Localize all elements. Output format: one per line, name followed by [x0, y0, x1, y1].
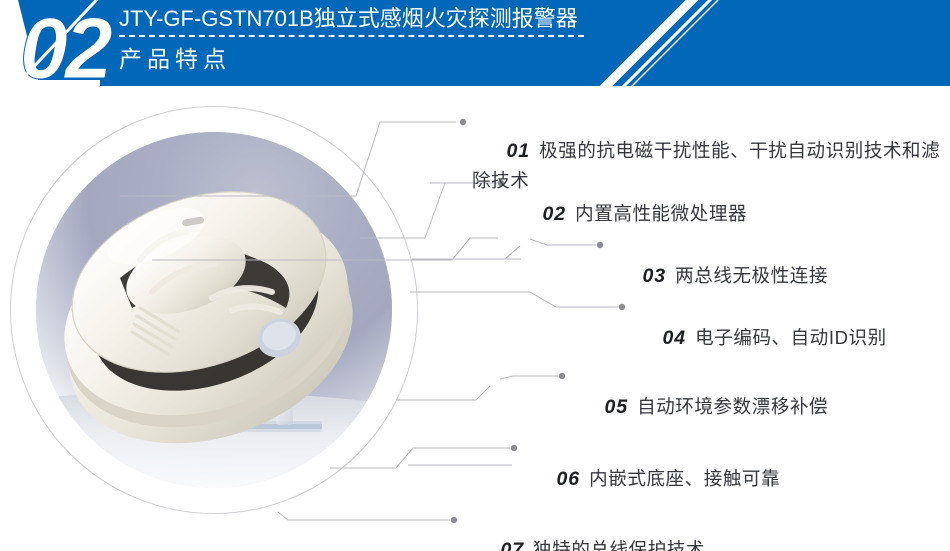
- feature-list: 01极强的抗电磁干扰性能、干扰自动识别技术和滤除技术 02内置高性能微处理器 0…: [0, 0, 950, 551]
- feature-number: 04: [662, 327, 686, 349]
- feature-text: 自动环境参数漂移补偿: [637, 396, 828, 417]
- feature-number: 05: [604, 396, 628, 418]
- feature-text: 两总线无极性连接: [675, 265, 828, 286]
- feature-number: 03: [642, 265, 666, 287]
- feature-text: 内置高性能微处理器: [575, 203, 747, 224]
- feature-number: 06: [556, 468, 580, 490]
- feature-text: 内嵌式底座、接触可靠: [589, 468, 780, 489]
- feature-number: 01: [506, 140, 530, 162]
- feature-number: 02: [542, 203, 566, 225]
- feature-text: 独特的总线保护技术: [533, 539, 705, 551]
- feature-item-07: 07独特的总线保护技术: [466, 506, 936, 551]
- feature-text: 电子编码、自动ID识别: [695, 327, 887, 348]
- product-feature-infographic: 02 JTY-GF-GSTN701B独立式感烟火灾探测报警器 产品特点: [0, 0, 950, 551]
- feature-number: 07: [500, 539, 524, 551]
